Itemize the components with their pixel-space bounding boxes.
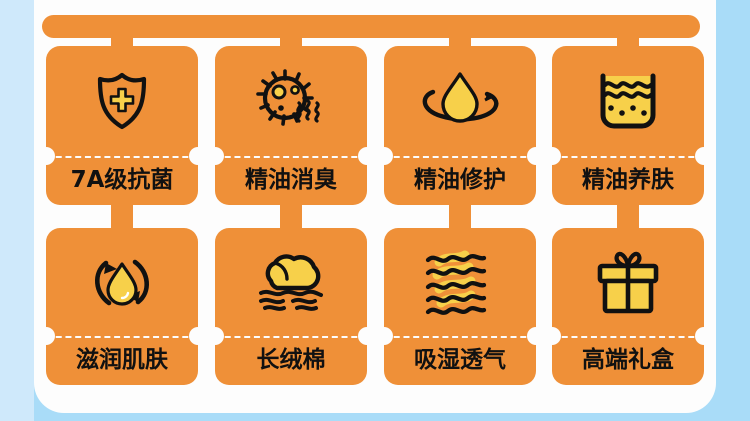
label-container: 高端礼盒 (552, 336, 704, 385)
feature-label: 滋润肌肤 (76, 349, 168, 372)
feature-card-gift-box[interactable]: 高端礼盒 (552, 228, 704, 385)
feature-card-moisturize[interactable]: 滋润肌肤 (46, 228, 198, 385)
icon-container (215, 46, 367, 156)
feature-label: 精油养肤 (582, 169, 674, 192)
label-container: 精油消臭 (215, 156, 367, 205)
label-container: 7A级抗菌 (46, 156, 198, 205)
feature-label: 吸湿透气 (414, 349, 506, 372)
shield-plus-icon (86, 65, 158, 137)
germ-odor-icon (254, 65, 328, 137)
feature-card-repair[interactable]: 精油修护 (384, 46, 536, 205)
label-container: 长绒棉 (215, 336, 367, 385)
feature-card-antibacterial[interactable]: 7A级抗菌 (46, 46, 198, 205)
wave-lines-icon (423, 248, 497, 316)
feature-card-nourish-skin[interactable]: 精油养肤 (552, 46, 704, 205)
icon-container (552, 46, 704, 156)
liquid-basin-icon (594, 68, 662, 134)
feature-ticket-grid: 7A级抗菌 (0, 0, 750, 421)
gift-box-icon (593, 249, 663, 315)
label-container: 滋润肌肤 (46, 336, 198, 385)
label-container: 精油养肤 (552, 156, 704, 205)
oil-droplet-orbit-icon (419, 66, 501, 136)
feature-card-long-staple-cotton[interactable]: 长绒棉 (215, 228, 367, 385)
icon-container (552, 228, 704, 336)
feature-card-breathable[interactable]: 吸湿透气 (384, 228, 536, 385)
icon-container (384, 46, 536, 156)
cotton-cloud-icon (253, 251, 329, 313)
feature-label: 7A级抗菌 (71, 169, 174, 192)
feature-label: 高端礼盒 (582, 349, 674, 372)
label-container: 精油修护 (384, 156, 536, 205)
icon-container (46, 228, 198, 336)
icon-container (384, 228, 536, 336)
feature-card-deodorize[interactable]: 精油消臭 (215, 46, 367, 205)
label-container: 吸湿透气 (384, 336, 536, 385)
promo-feature-banner: 7A级抗菌 (0, 0, 750, 421)
feature-label: 精油消臭 (245, 169, 337, 192)
icon-container (215, 228, 367, 336)
feature-label: 精油修护 (414, 169, 506, 192)
feature-label: 长绒棉 (257, 349, 326, 372)
icon-container (46, 46, 198, 156)
droplet-recycle-icon (85, 245, 159, 319)
